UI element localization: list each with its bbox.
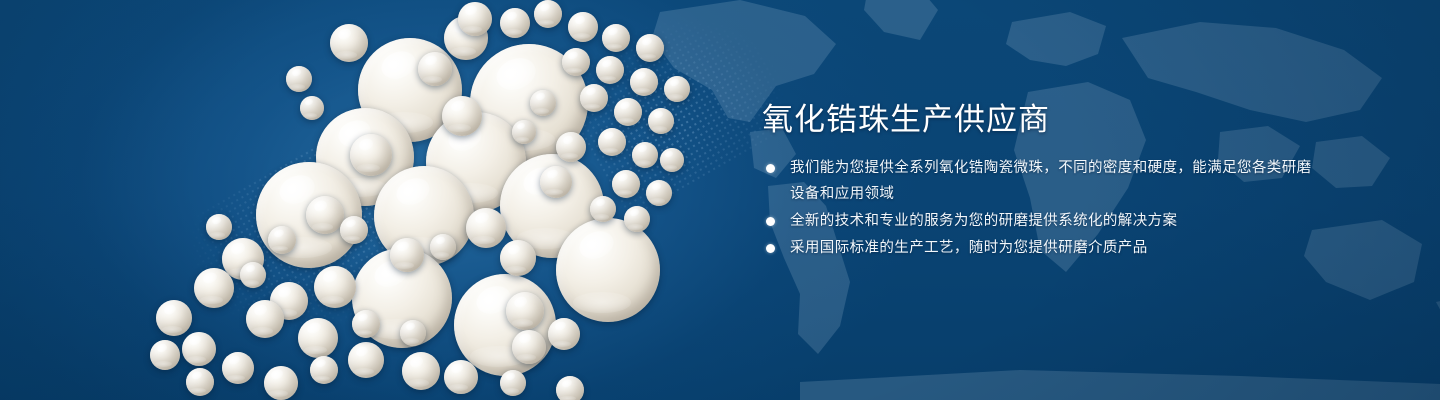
bead <box>598 128 626 156</box>
bead <box>246 300 284 338</box>
bead <box>340 216 368 244</box>
bead <box>222 352 254 384</box>
bead <box>660 148 684 172</box>
bead <box>268 226 296 254</box>
list-item-label: 我们能为您提供全系列氧化锆陶瓷微珠，不同的密度和硬度，能满足您各类研磨设备和应用… <box>790 160 1312 202</box>
bead <box>466 208 506 248</box>
bead <box>556 218 660 322</box>
list-item: 我们能为您提供全系列氧化锆陶瓷微珠，不同的密度和硬度，能满足您各类研磨设备和应用… <box>762 155 1322 207</box>
bead <box>150 340 180 370</box>
bead <box>240 262 266 288</box>
bead <box>596 56 624 84</box>
feature-list: 我们能为您提供全系列氧化锆陶瓷微珠，不同的密度和硬度，能满足您各类研磨设备和应用… <box>762 155 1322 261</box>
zirconia-beads-image <box>0 0 760 400</box>
bead <box>646 180 672 206</box>
hero-banner: 氧化锆珠生产供应商 我们能为您提供全系列氧化锆陶瓷微珠，不同的密度和硬度，能满足… <box>0 0 1440 400</box>
bead <box>590 196 616 222</box>
bead <box>624 206 650 232</box>
bead <box>500 240 536 276</box>
bead <box>352 310 380 338</box>
bead <box>264 366 298 400</box>
bead <box>458 2 492 36</box>
list-item: 采用国际标准的生产工艺，随时为您提供研磨介质产品 <box>762 235 1322 261</box>
bead <box>568 12 598 42</box>
bead <box>300 96 324 120</box>
bead <box>194 268 234 308</box>
bead <box>602 24 630 52</box>
bead <box>156 300 192 336</box>
bead <box>534 0 562 28</box>
bead <box>310 356 338 384</box>
bead <box>182 332 216 366</box>
bead <box>444 360 478 394</box>
bead <box>540 166 572 198</box>
bead <box>442 96 482 136</box>
bead <box>506 292 544 330</box>
bead <box>390 238 424 272</box>
bead <box>612 170 640 198</box>
bead <box>512 330 546 364</box>
bead <box>530 90 556 116</box>
bead <box>314 266 356 308</box>
bead <box>648 108 674 134</box>
bead <box>330 24 368 62</box>
list-item-label: 采用国际标准的生产工艺，随时为您提供研磨介质产品 <box>790 240 1148 256</box>
bead <box>286 66 312 92</box>
bead <box>614 98 642 126</box>
bead <box>350 134 392 176</box>
bead <box>632 142 658 168</box>
bead <box>418 52 452 86</box>
filled-circle-bullet-icon <box>766 164 775 173</box>
bead <box>548 318 580 350</box>
bead <box>402 352 440 390</box>
list-item: 全新的技术和专业的服务为您的研磨提供系统化的解决方案 <box>762 208 1322 234</box>
bead <box>636 34 664 62</box>
bead <box>630 68 658 96</box>
bead <box>400 320 426 346</box>
bead <box>186 368 214 396</box>
bead <box>512 120 536 144</box>
bead <box>580 84 608 112</box>
bead <box>500 370 526 396</box>
filled-circle-bullet-icon <box>766 217 775 226</box>
bead <box>454 274 556 376</box>
bead <box>500 8 530 38</box>
filled-circle-bullet-icon <box>766 244 775 253</box>
page-title: 氧化锆珠生产供应商 <box>762 104 1322 137</box>
bead <box>348 342 384 378</box>
bead <box>306 196 344 234</box>
bead <box>562 48 590 76</box>
bead <box>430 234 456 260</box>
bead <box>556 132 586 162</box>
bead <box>664 76 690 102</box>
list-item-label: 全新的技术和专业的服务为您的研磨提供系统化的解决方案 <box>790 213 1177 229</box>
banner-copy: 氧化锆珠生产供应商 我们能为您提供全系列氧化锆陶瓷微珠，不同的密度和硬度，能满足… <box>762 104 1322 262</box>
bead <box>298 318 338 358</box>
bead <box>206 214 232 240</box>
bead <box>556 376 584 400</box>
